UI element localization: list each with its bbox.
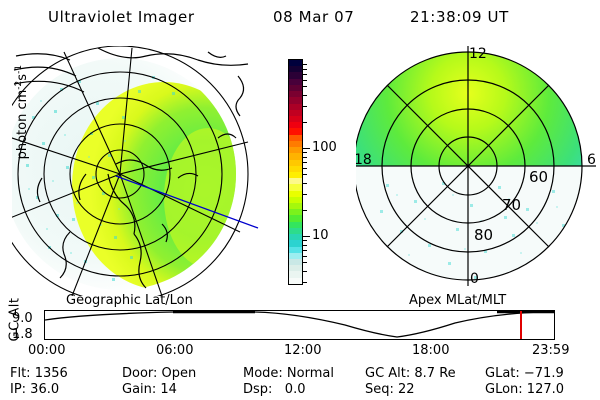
- colorbar-tick-minor: [303, 282, 307, 283]
- apex-image-panel[interactable]: 60 70 80 12 18 6 0: [356, 44, 600, 296]
- colorbar-tick-minor: [303, 271, 307, 272]
- mlt-label-18: 18: [356, 152, 372, 168]
- colorbar-tick-minor: [303, 240, 307, 241]
- colorbar-tick-minor: [303, 152, 307, 153]
- colorbar-unit-exp2: -1: [14, 65, 24, 74]
- colorbar-tick-minor: [303, 250, 307, 251]
- status-gc-altitude: GC Alt: 8.7 Re: [365, 366, 456, 381]
- colorbar: [288, 59, 303, 285]
- time-tick-1800: 18:00: [412, 343, 449, 358]
- time-tick-2359: 23:59: [532, 343, 569, 358]
- orbit-altitude-curve: [45, 311, 554, 339]
- orbit-y-label-low: 1.8: [12, 327, 33, 342]
- current-time-marker: [520, 311, 522, 339]
- colorbar-tick-minor: [303, 183, 307, 184]
- time-tick-0600: 06:00: [156, 343, 193, 358]
- colorbar-gradient: [289, 60, 302, 284]
- uvi-display: Ultraviolet Imager 08 Mar 07 21:38:09 UT: [0, 0, 600, 400]
- colorbar-unit-mid: s: [15, 74, 30, 81]
- status-sequence: Seq: 22: [365, 382, 415, 397]
- mlat-label-80: 80: [474, 226, 493, 244]
- mlt-label-12: 12: [469, 46, 487, 62]
- geographic-panel-title: Geographic Lat/Lon: [66, 293, 193, 308]
- colorbar-tick-minor: [303, 64, 307, 65]
- apex-plot-svg: 60 70 80: [356, 44, 600, 296]
- colorbar-tick-minor: [303, 174, 307, 175]
- colorbar-tick-10: [303, 236, 310, 237]
- time-tick-0000: 00:00: [28, 343, 65, 358]
- colorbar-tick-minor: [303, 194, 307, 195]
- time-tick-1200: 12:00: [284, 343, 321, 358]
- mlat-label-60: 60: [529, 168, 548, 186]
- colorbar-label-100: 100: [312, 140, 337, 155]
- colorbar-band-35: [289, 278, 302, 284]
- status-flight-number: Flt: 1356: [10, 366, 68, 381]
- observation-time: 21:38:09 UT: [410, 8, 509, 26]
- geographic-plot-svg: [12, 46, 264, 296]
- colorbar-tick-minor: [303, 157, 307, 158]
- colorbar-tick-minor: [303, 95, 307, 96]
- colorbar-tick-100: [303, 148, 310, 149]
- colorbar-axis-title: photon cm-2s-1: [14, 52, 30, 172]
- mlat-label-70: 70: [502, 196, 521, 214]
- mlt-label-6: 6: [587, 152, 596, 168]
- geographic-image-panel[interactable]: [12, 46, 264, 296]
- status-mode: Mode: Normal: [243, 366, 334, 381]
- colorbar-tick-minor: [303, 262, 307, 263]
- colorbar-tick-minor: [303, 168, 307, 169]
- observation-date: 08 Mar 07: [273, 8, 354, 26]
- status-door-state: Door: Open: [122, 366, 196, 381]
- colorbar-tick-minor: [303, 106, 307, 107]
- colorbar-tick-minor: [303, 210, 307, 211]
- colorbar-unit-exp1: -2: [14, 81, 24, 90]
- colorbar-tick-minor: [303, 256, 307, 257]
- status-dsp: Dsp: 0.0: [243, 382, 306, 397]
- colorbar-tick-minor: [303, 122, 307, 123]
- colorbar-tick-minor: [303, 86, 307, 87]
- colorbar-tick-minor: [303, 245, 307, 246]
- orbit-y-label-high: 9.0: [12, 311, 33, 326]
- mlt-label-0: 0: [470, 271, 479, 287]
- apex-panel-title: Apex MLat/MLT: [409, 293, 506, 308]
- colorbar-unit-main: photon cm: [15, 90, 30, 160]
- status-glat: GLat: −71.9: [485, 366, 564, 381]
- status-gain: Gain: 14: [122, 382, 177, 397]
- orbit-altitude-plot[interactable]: [44, 310, 555, 340]
- colorbar-tick-minor: [303, 69, 307, 70]
- status-ip: IP: 36.0: [10, 382, 59, 397]
- colorbar-tick-minor: [303, 162, 307, 163]
- colorbar-tick-minor: [303, 80, 307, 81]
- colorbar-label-10: 10: [312, 228, 329, 243]
- status-glon: GLon: 127.0: [485, 382, 564, 397]
- colorbar-ticks: [303, 59, 310, 285]
- colorbar-tick-minor: [303, 74, 307, 75]
- instrument-title: Ultraviolet Imager: [48, 8, 195, 26]
